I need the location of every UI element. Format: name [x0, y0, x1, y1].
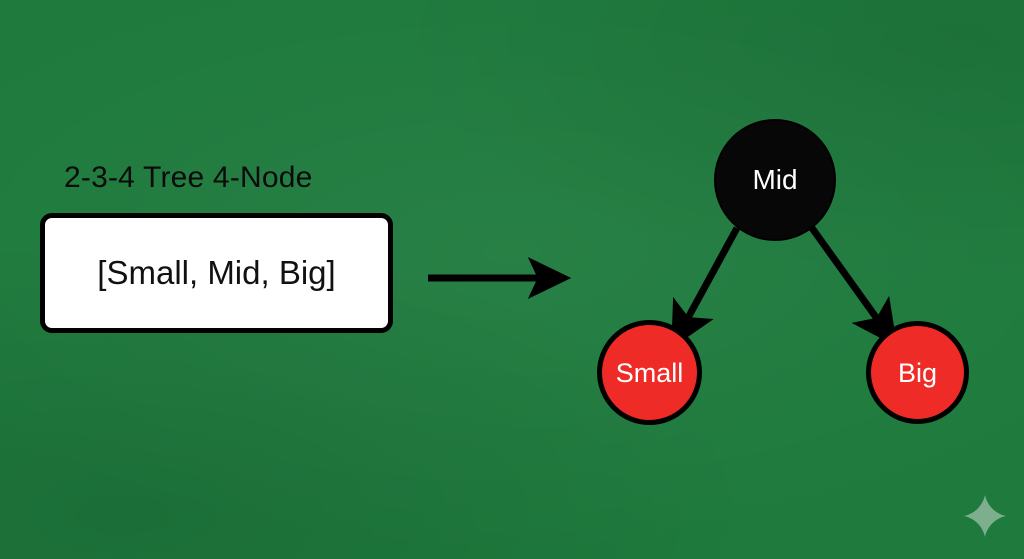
tree-node-small: Small [597, 320, 702, 425]
sparkle-icon [962, 493, 1008, 539]
tree-node-big: Big [866, 321, 969, 424]
four-node-box: [Small, Mid, Big] [40, 213, 393, 333]
page-title: 2-3-4 Tree 4-Node [64, 160, 313, 196]
tree-node-big-label: Big [898, 358, 937, 388]
diagram-canvas: 2-3-4 Tree 4-Node [Small, Mid, Big] Mid … [0, 0, 1024, 559]
tree-node-small-label: Small [616, 358, 684, 388]
tree-node-mid: Mid [714, 119, 836, 241]
tree-node-mid-label: Mid [752, 165, 797, 195]
four-node-keys-text: [Small, Mid, Big] [97, 254, 335, 292]
